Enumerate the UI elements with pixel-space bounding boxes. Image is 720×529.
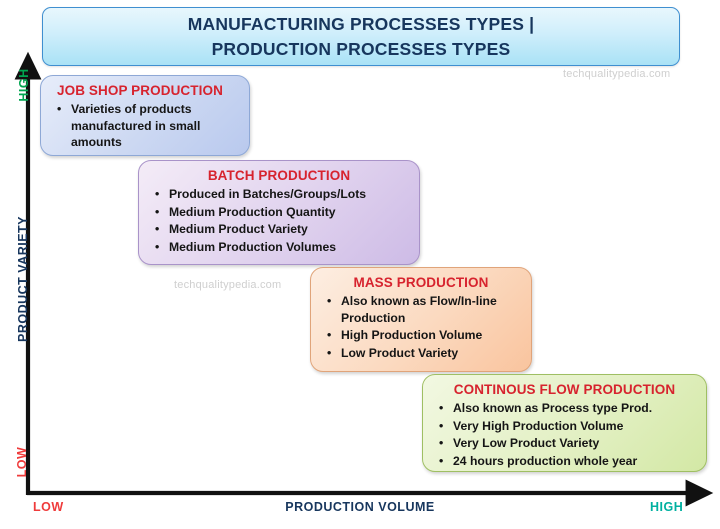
bullet-text: 24 hours production whole year	[453, 454, 637, 468]
bullet-text: Very High Production Volume	[453, 419, 623, 433]
process-box-heading-job-shop: JOB SHOP PRODUCTION	[49, 82, 241, 99]
title-line-1: MANUFACTURING PROCESSES TYPES |	[188, 12, 535, 37]
y-axis-title: PRODUCT VARIETY	[16, 209, 30, 349]
list-item: • Low Product Variety	[319, 345, 523, 362]
bullet-text: Also known as Flow/In-line Production	[341, 294, 497, 325]
bullet-icon: •	[155, 186, 159, 203]
process-box-continuous-flow-production[interactable]: CONTINOUS FLOW PRODUCTION • Also known a…	[422, 374, 707, 472]
bullet-icon: •	[155, 221, 159, 238]
bullet-text: Medium Production Volumes	[169, 240, 336, 254]
list-item: • Medium Production Quantity	[147, 204, 411, 221]
list-item: • Very High Production Volume	[431, 418, 698, 435]
process-box-mass-production[interactable]: MASS PRODUCTION • Also known as Flow/In-…	[310, 267, 532, 372]
process-box-heading-batch: BATCH PRODUCTION	[147, 167, 411, 184]
list-item: • Also known as Flow/In-line Production	[319, 293, 523, 326]
bullet-icon: •	[327, 345, 331, 362]
bullet-icon: •	[439, 435, 443, 452]
watermark-top-right: techqualitypedia.com	[563, 68, 670, 80]
process-bullet-list-job-shop: • Varieties of products manufactured in …	[49, 101, 241, 151]
bullet-icon: •	[327, 293, 331, 310]
title-banner: MANUFACTURING PROCESSES TYPES | PRODUCTI…	[42, 7, 680, 66]
process-box-heading-continuous: CONTINOUS FLOW PRODUCTION	[431, 381, 698, 398]
title-line-2: PRODUCTION PROCESSES TYPES	[212, 37, 511, 62]
bullet-text: Produced in Batches/Groups/Lots	[169, 187, 366, 201]
bullet-icon: •	[439, 418, 443, 435]
bullet-icon: •	[57, 101, 61, 118]
list-item: • Medium Product Variety	[147, 221, 411, 238]
y-axis-high-label: HIGH	[17, 55, 31, 115]
process-box-heading-mass: MASS PRODUCTION	[319, 274, 523, 291]
bullet-text: Medium Production Quantity	[169, 205, 336, 219]
bullet-text: Very Low Product Variety	[453, 436, 599, 450]
bullet-icon: •	[327, 327, 331, 344]
x-axis-high-label: HIGH	[650, 500, 683, 514]
y-axis-low-label: LOW	[15, 432, 29, 492]
bullet-text: Varieties of products manufactured in sm…	[71, 102, 200, 149]
bullet-icon: •	[155, 204, 159, 221]
watermark-middle-left: techqualitypedia.com	[174, 279, 281, 291]
list-item: • Varieties of products manufactured in …	[49, 101, 241, 151]
bullet-text: Also known as Process type Prod.	[453, 401, 652, 415]
list-item: • Also known as Process type Prod.	[431, 400, 698, 417]
bullet-text: Medium Product Variety	[169, 222, 308, 236]
process-box-batch-production[interactable]: BATCH PRODUCTION • Produced in Batches/G…	[138, 160, 420, 265]
bullet-text: High Production Volume	[341, 328, 482, 342]
bullet-icon: •	[439, 400, 443, 417]
list-item: • Very Low Product Variety	[431, 435, 698, 452]
bullet-text: Low Product Variety	[341, 346, 458, 360]
infographic-canvas: MANUFACTURING PROCESSES TYPES | PRODUCTI…	[0, 0, 720, 529]
process-bullet-list-mass: • Also known as Flow/In-line Production …	[319, 293, 523, 361]
list-item: • High Production Volume	[319, 327, 523, 344]
process-bullet-list-batch: • Produced in Batches/Groups/Lots • Medi…	[147, 186, 411, 255]
x-axis-title: PRODUCTION VOLUME	[0, 500, 720, 514]
bullet-icon: •	[155, 239, 159, 256]
list-item: • 24 hours production whole year	[431, 453, 698, 470]
list-item: • Medium Production Volumes	[147, 239, 411, 256]
process-box-job-shop-production[interactable]: JOB SHOP PRODUCTION • Varieties of produ…	[40, 75, 250, 156]
process-bullet-list-continuous: • Also known as Process type Prod. • Ver…	[431, 400, 698, 469]
bullet-icon: •	[439, 453, 443, 470]
list-item: • Produced in Batches/Groups/Lots	[147, 186, 411, 203]
